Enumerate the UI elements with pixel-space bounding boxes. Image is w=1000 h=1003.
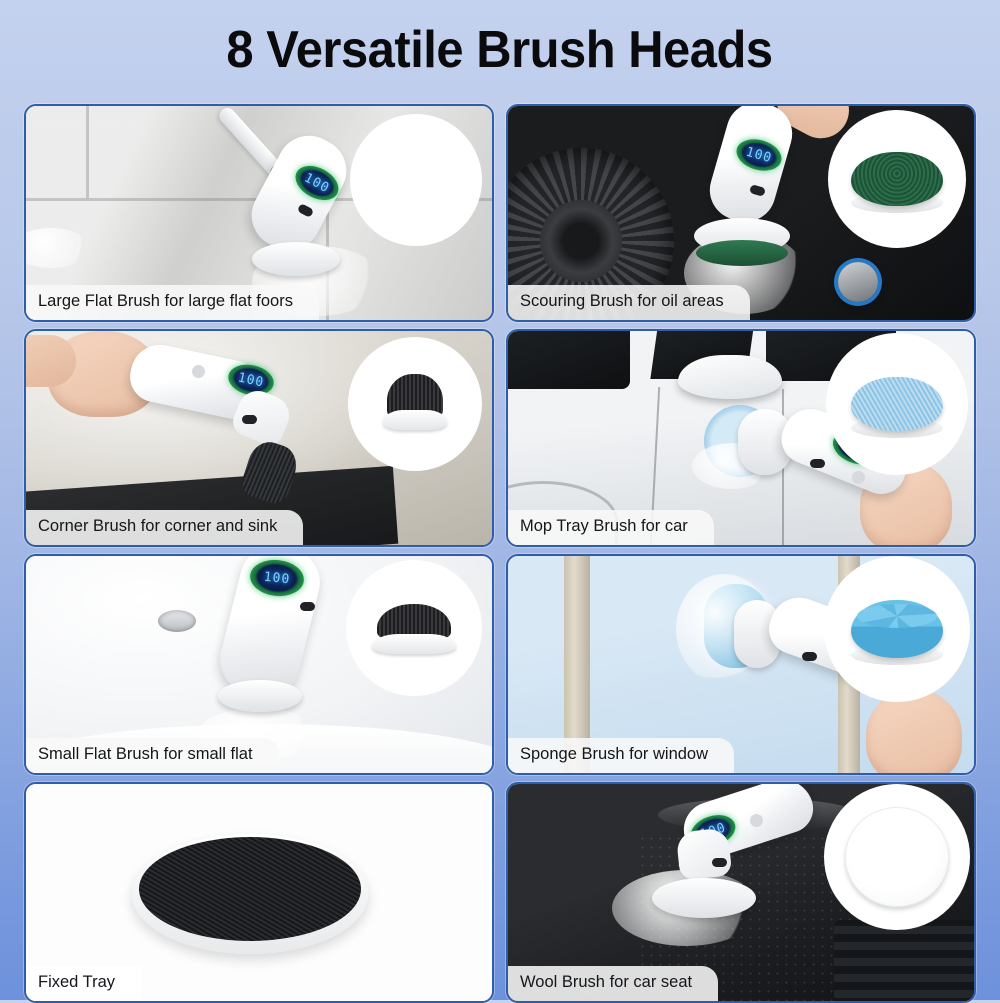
large-flat-brush-head-icon xyxy=(374,154,458,206)
card-caption: Fixed Tray xyxy=(26,966,141,1001)
card-sponge-brush[interactable]: 100 Sponge Brush for window xyxy=(506,554,976,775)
card-caption: Corner Brush for corner and sink xyxy=(26,510,303,545)
power-button xyxy=(242,415,257,424)
user-hand xyxy=(866,690,962,773)
floor-mat xyxy=(834,920,974,1001)
green-scouring-pad-icon xyxy=(851,152,943,206)
card-caption: Large Flat Brush for large flat foors xyxy=(26,285,319,320)
corner-brush-head-icon xyxy=(373,378,457,430)
card-fixed-tray[interactable]: Fixed Tray xyxy=(24,782,494,1003)
pad-rim xyxy=(851,645,943,665)
inset-blue-sponge-pad xyxy=(824,556,970,702)
green-pad-attached xyxy=(696,240,788,266)
inset-corner-brush-head xyxy=(348,337,482,471)
card-caption: Mop Tray Brush for car xyxy=(508,510,714,545)
card-caption: Sponge Brush for window xyxy=(508,738,734,773)
led-display-value: 100 xyxy=(263,569,291,587)
indicator-dot xyxy=(192,365,205,378)
indicator-dot xyxy=(852,471,865,484)
brush-head-grid: 100 Large Flat Brush for large flat foor… xyxy=(24,104,976,1003)
device-brush-head xyxy=(652,878,756,918)
card-caption: Small Flat Brush for small flat xyxy=(26,738,279,773)
car-window-rear xyxy=(508,331,630,389)
sink-overflow-drain xyxy=(158,610,196,632)
page-title: 8 Versatile Brush Heads xyxy=(227,20,773,80)
inset-large-flat-brush-head xyxy=(350,114,482,246)
white-wool-pad-icon xyxy=(845,807,949,907)
card-mop-tray-brush[interactable]: 100 Mop Tray Brush for car xyxy=(506,329,976,547)
device-neck xyxy=(676,827,733,880)
card-caption: Wool Brush for car seat xyxy=(508,966,718,1001)
side-mirror xyxy=(678,355,782,399)
led-display-value: 100 xyxy=(302,170,332,196)
card-small-flat-brush[interactable]: 100 Small Flat Brush for small flat xyxy=(24,554,494,775)
pad-rim xyxy=(851,193,943,213)
device-brush-head xyxy=(252,242,340,276)
blue-microfiber-pad-icon xyxy=(851,377,943,431)
inset-small-flat-brush-head xyxy=(346,560,482,696)
fixed-tray-product xyxy=(132,834,368,954)
brush-base xyxy=(372,634,456,654)
led-display-value: 100 xyxy=(744,144,774,166)
device-brush-head xyxy=(218,680,302,712)
power-button xyxy=(712,858,727,867)
inset-blue-microfiber-pad xyxy=(826,333,968,475)
card-corner-brush[interactable]: 100 Corner Brush for corner and sink xyxy=(24,329,494,547)
small-flat-brush-head-icon xyxy=(372,602,456,654)
indicator-dot xyxy=(750,814,763,827)
stove-knob xyxy=(838,262,878,302)
power-button xyxy=(810,459,825,468)
blue-sponge-pad-icon xyxy=(851,600,943,658)
grout-line xyxy=(86,106,89,198)
card-large-flat-brush[interactable]: 100 Large Flat Brush for large flat foor… xyxy=(24,104,494,322)
card-caption: Scouring Brush for oil areas xyxy=(508,285,750,320)
power-button xyxy=(300,602,315,611)
brush-base xyxy=(383,410,447,430)
card-scouring-brush[interactable]: 100 Scouring Brush for oil areas xyxy=(506,104,976,322)
power-button xyxy=(802,652,817,661)
led-display-value: 100 xyxy=(236,370,265,390)
user-arm xyxy=(26,335,76,387)
inset-white-wool-pad xyxy=(824,784,970,930)
card-wool-brush[interactable]: 100 Wool Brush for car seat xyxy=(506,782,976,1003)
title-bar: 8 Versatile Brush Heads xyxy=(0,0,1000,100)
inset-green-scouring-pad xyxy=(828,110,966,248)
pad-rim xyxy=(851,418,943,438)
tray-velcro-surface xyxy=(139,837,361,941)
infographic-page: 8 Versatile Brush Heads 100 xyxy=(0,0,1000,1000)
